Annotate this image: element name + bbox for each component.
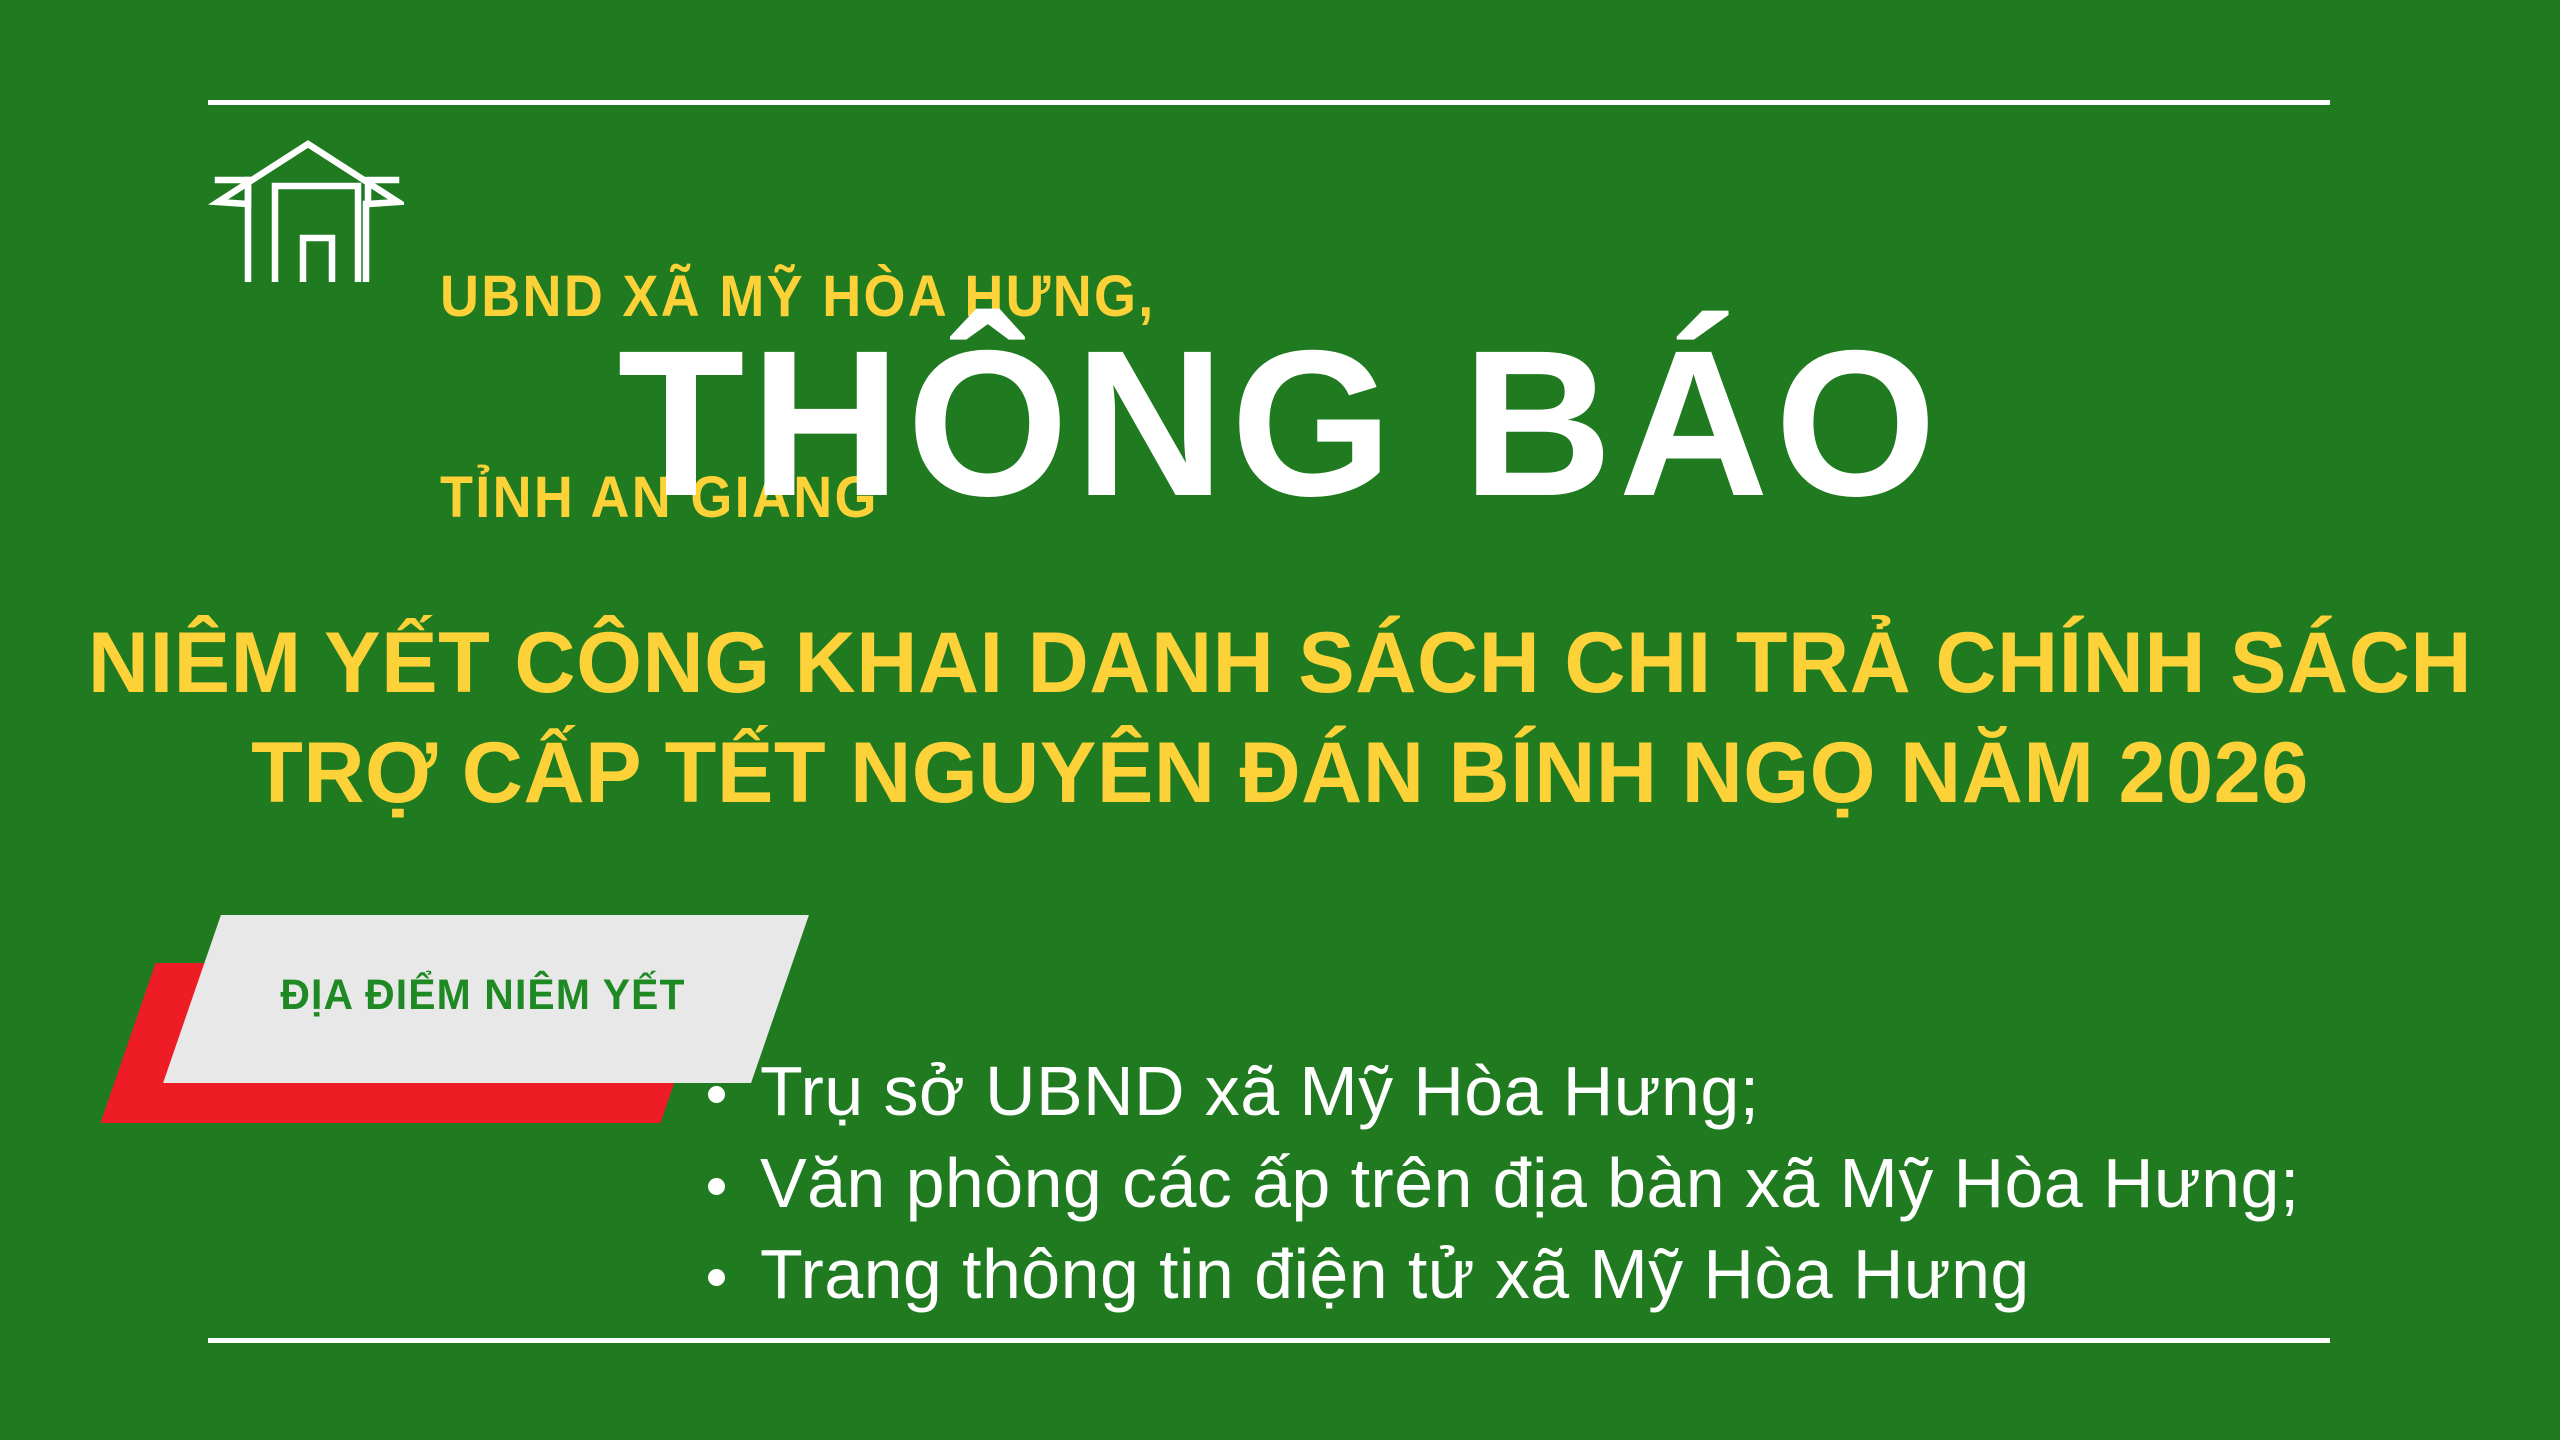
page-subtitle-line-1: NIÊM YẾT CÔNG KHAI DANH SÁCH CHI TRẢ CHÍ… (19, 608, 2541, 718)
posting-location-list: Trụ sở UBND xã Mỹ Hòa Hưng; Văn phòng cá… (700, 1046, 2300, 1321)
list-item: Văn phòng các ấp trên địa bàn xã Mỹ Hòa … (700, 1138, 2300, 1230)
page-subtitle: NIÊM YẾT CÔNG KHAI DANH SÁCH CHI TRẢ CHÍ… (0, 608, 2560, 828)
list-item-label: Trụ sở UBND xã Mỹ Hòa Hưng; (760, 1052, 1760, 1130)
bullet-dot-icon (708, 1269, 725, 1286)
list-item-label: Văn phòng các ấp trên địa bàn xã Mỹ Hòa … (760, 1144, 2300, 1222)
badge-label: ĐỊA ĐIỂM NIÊM YẾT (231, 971, 735, 1020)
list-item-label: Trang thông tin điện tử xã Mỹ Hòa Hưng (760, 1235, 2030, 1313)
list-item: Trang thông tin điện tử xã Mỹ Hòa Hưng (700, 1229, 2300, 1321)
announcement-banner: UBND XÃ MỸ HÒA HƯNG, TỈNH AN GIANG THÔNG… (0, 0, 2560, 1440)
bullet-dot-icon (708, 1178, 725, 1195)
house-outline-icon (208, 132, 404, 282)
top-divider-rule (208, 100, 2330, 105)
list-item: Trụ sở UBND xã Mỹ Hòa Hưng; (700, 1046, 2300, 1138)
page-subtitle-line-2: TRỢ CẤP TẾT NGUYÊN ĐÁN BÍNH NGỌ NĂM 2026 (19, 718, 2541, 828)
page-title: THÔNG BÁO (0, 320, 2560, 528)
bottom-divider-rule (208, 1338, 2330, 1343)
bullet-dot-icon (708, 1086, 725, 1103)
